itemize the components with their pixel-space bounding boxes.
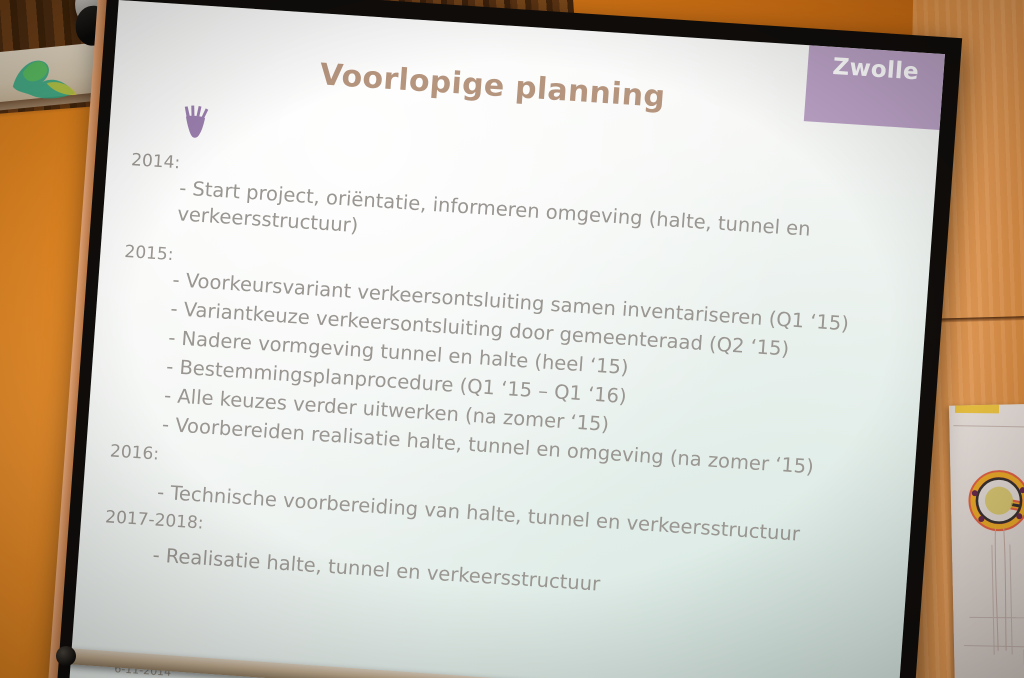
presentation-slide: Zwolle Voorlopige planning — [69, 0, 945, 678]
zwolle-logo-text: Zwolle — [832, 54, 920, 86]
slide-body: 2014: - Start project, oriëntatie, infor… — [100, 149, 921, 620]
room-scene: Zwolle Voorlopige planning — [0, 0, 1024, 678]
projection-screen: Zwolle Voorlopige planning — [52, 0, 962, 678]
screen-bar-knob — [56, 646, 76, 666]
roundabout-diagram-icon — [949, 402, 1024, 678]
green-decoration — [2, 43, 83, 115]
roundabout-map-poster — [949, 402, 1024, 678]
zwolle-hand-icon — [181, 104, 213, 140]
zwolle-logo-badge: Zwolle — [804, 45, 945, 130]
